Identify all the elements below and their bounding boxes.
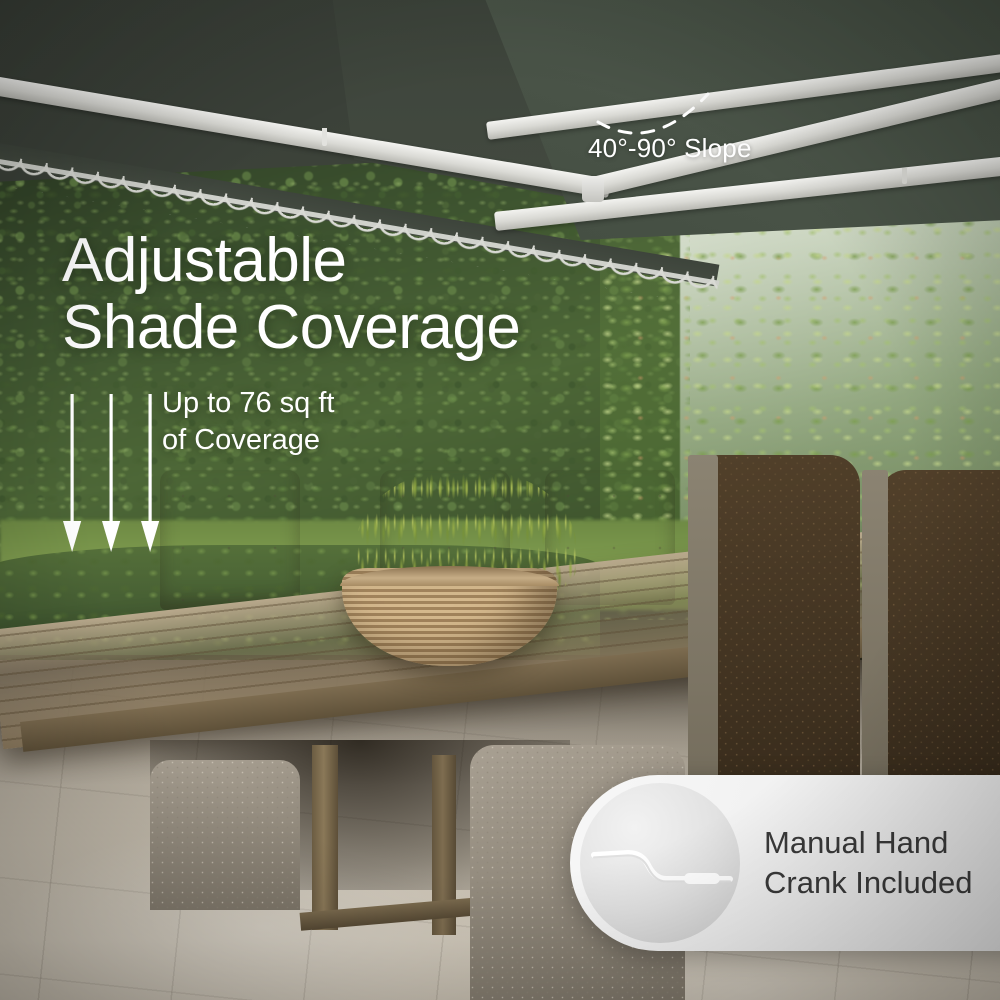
down-arrow-icon-group [60, 390, 170, 565]
chair-base-left [150, 760, 300, 910]
table-leg-left [312, 745, 338, 930]
awning-arm-joint [582, 176, 604, 202]
badge-label: Manual Hand Crank Included [764, 823, 973, 904]
awning-arm-drop-left [322, 128, 327, 146]
page-title: Adjustable Shade Coverage [62, 228, 520, 362]
subtitle: Up to 76 sq ft of Coverage [162, 385, 335, 459]
manual-crank-badge: Manual Hand Crank Included [570, 775, 1000, 951]
hand-crank-icon [580, 783, 740, 943]
product-marketing-image: 40°-90° Slope Adjustable Shade Coverage … [0, 0, 1000, 1000]
slope-label: 40°-90° Slope [588, 133, 752, 164]
crank-icon-circle [580, 783, 740, 943]
awning-arm-drop-right [902, 168, 907, 184]
chair-cushion-left [160, 470, 300, 610]
